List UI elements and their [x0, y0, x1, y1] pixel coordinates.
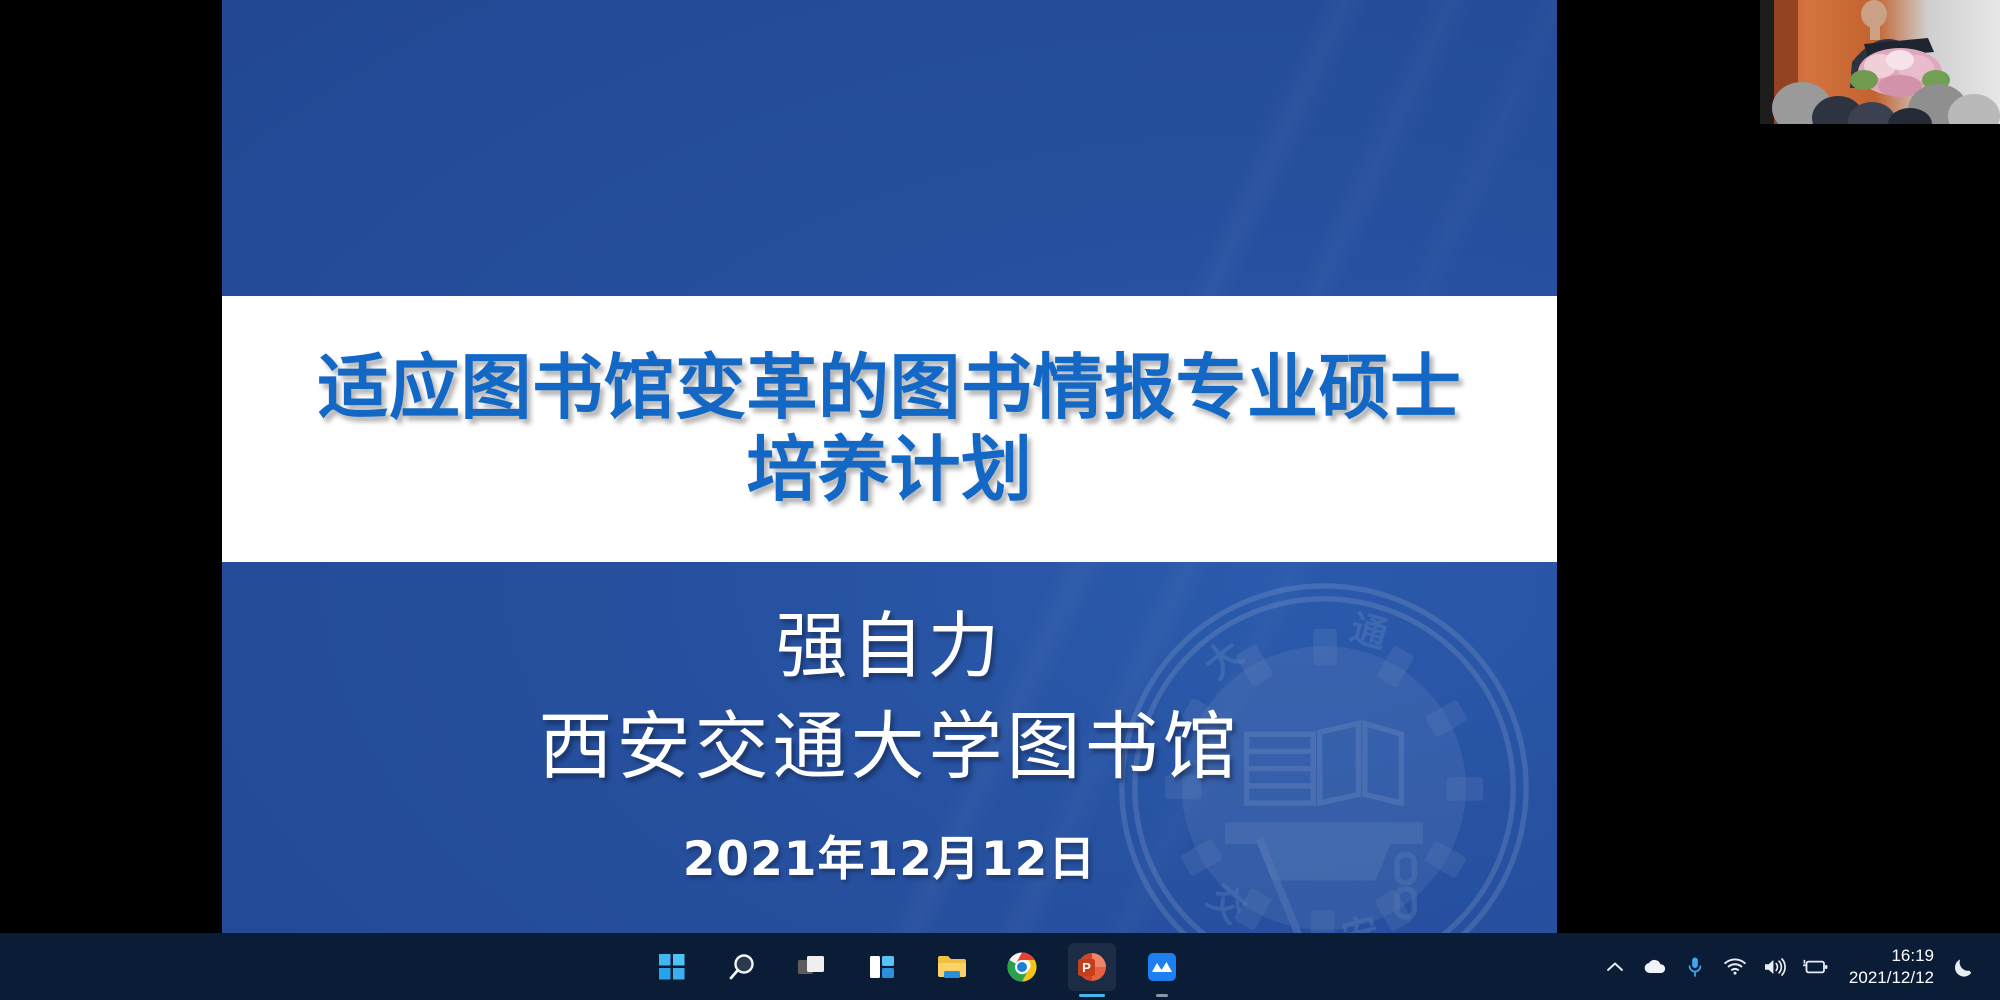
chevron-up-icon: [1606, 960, 1624, 974]
tray-microphone[interactable]: [1675, 933, 1715, 1000]
cloud-icon: [1643, 959, 1667, 975]
speaker-video-frame: [1760, 0, 2000, 124]
tray-battery[interactable]: [1795, 933, 1835, 1000]
tray-network[interactable]: [1715, 933, 1755, 1000]
taskbar-running-indicator: [1156, 994, 1168, 997]
tray-volume[interactable]: [1755, 933, 1795, 1000]
taskbar-clock[interactable]: 16:19 2021/12/12: [1849, 945, 1934, 989]
mountain-app-icon: [1148, 953, 1176, 981]
widgets-icon: [869, 955, 895, 979]
chrome-icon: [1007, 952, 1037, 982]
windows-taskbar[interactable]: P: [0, 933, 2000, 1000]
taskbar-item-meeting-app[interactable]: [1138, 943, 1186, 991]
task-view-icon: [798, 955, 826, 979]
windows-start-icon: [659, 954, 685, 980]
slide-affiliation: 西安交通大学图书馆: [222, 694, 1557, 801]
svg-text:安: 安: [1338, 909, 1384, 933]
slide-date: 2021年12月12日: [222, 827, 1557, 893]
taskbar-left-spacer: [0, 933, 648, 1000]
slide-title-line-1: 适应图书馆变革的图书情报专业硕士: [317, 347, 1461, 429]
taskbar-item-file-explorer[interactable]: [928, 943, 976, 991]
search-icon: [728, 953, 756, 981]
svg-text:P: P: [1082, 960, 1091, 975]
slide-title-line-2: 培养计划: [746, 429, 1032, 511]
slide-title-band: 适应图书馆变革的图书情报专业硕士 培养计划: [222, 296, 1557, 562]
speaker-icon: [1763, 957, 1787, 977]
taskbar-item-powerpoint[interactable]: P: [1068, 943, 1116, 991]
taskbar-item-search[interactable]: [718, 943, 766, 991]
tray-onedrive[interactable]: [1635, 933, 1675, 1000]
clock-time: 16:19: [1891, 945, 1934, 967]
slide-byline: 强自力 西安交通大学图书馆 2021年12月12日: [222, 600, 1557, 893]
clock-date: 2021/12/12: [1849, 967, 1934, 989]
system-tray: 16:19 2021/12/12: [1595, 933, 2000, 1000]
wifi-icon: [1724, 958, 1746, 975]
speaker-video-overlay[interactable]: [1760, 0, 2000, 124]
screen: 大 通 交 安 适应图书馆变革的图书情报专业硕士 培养计划 强自力 西安交通大学…: [0, 0, 2000, 1000]
battery-charging-icon: [1802, 959, 1828, 975]
slide-presenter-name: 强自力: [222, 600, 1557, 694]
taskbar-item-chrome[interactable]: [998, 943, 1046, 991]
presentation-slide[interactable]: 大 通 交 安 适应图书馆变革的图书情报专业硕士 培养计划 强自力 西安交通大学…: [222, 0, 1557, 933]
taskbar-item-widgets[interactable]: [858, 943, 906, 991]
taskbar-app-buttons: P: [648, 933, 1186, 1000]
tray-show-hidden-icons[interactable]: [1595, 933, 1635, 1000]
microphone-icon: [1687, 956, 1703, 978]
taskbar-item-start[interactable]: [648, 943, 696, 991]
tray-focus-assist[interactable]: [1944, 933, 1984, 1000]
moon-icon: [1953, 956, 1975, 978]
folder-icon: [937, 954, 967, 980]
powerpoint-icon: P: [1077, 952, 1107, 982]
taskbar-item-task-view[interactable]: [788, 943, 836, 991]
taskbar-active-indicator: [1079, 994, 1105, 997]
